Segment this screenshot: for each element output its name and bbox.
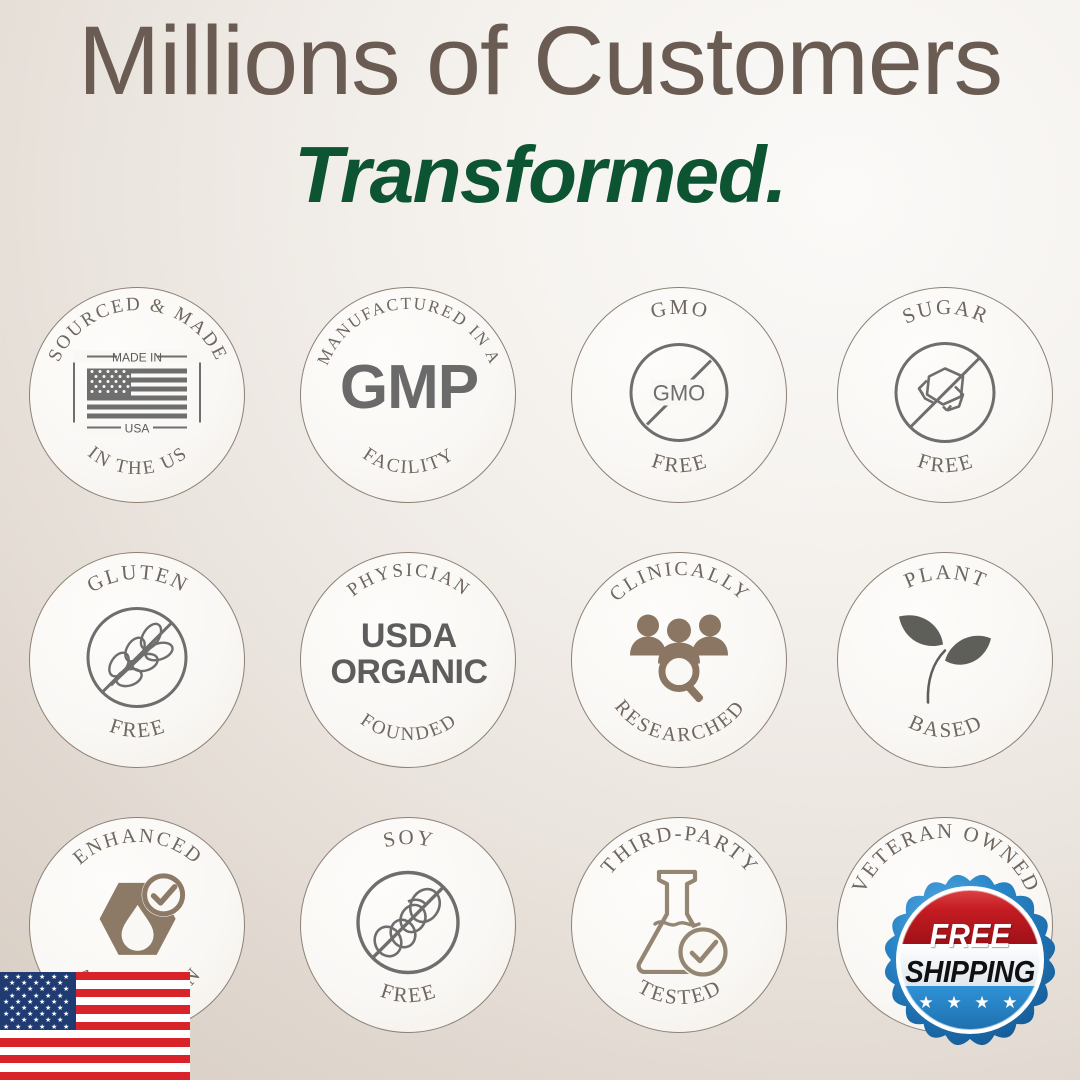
badge-bottom-arc-label: IN THE US (84, 442, 192, 479)
badge-bottom-arc-label: FACILITY (359, 444, 459, 479)
seal-stars-label: ★ ★ ★ ★ (872, 993, 1068, 1013)
badge-top-arc-label: GMO (648, 295, 712, 323)
made-in-label: MADE IN (112, 351, 162, 365)
organic-label: ORGANIC (301, 653, 516, 692)
badge-top-arc-label: SUGAR (899, 295, 994, 329)
badge-gluten-free: GLUTEN FREE (29, 552, 245, 768)
badge-top-arc-label: PHYSICIAN (343, 560, 474, 601)
badge-sugar-free: SUGAR FREE (837, 287, 1053, 503)
gmp-text-icon: GMP (301, 352, 516, 423)
usda-label: USDA (301, 617, 516, 656)
page-title: Millions of Customers (0, 12, 1080, 109)
seal-free-label: FREE (880, 917, 1060, 955)
badge-third-party-tested: THIRD-PARTY TESTED (571, 817, 787, 1033)
badge-clinically-researched: CLINICALLY RESEARCHED (571, 552, 787, 768)
svg-text:CLINICALLY: CLINICALLY (605, 558, 754, 606)
svg-text:FACILITY: FACILITY (359, 444, 459, 479)
badge-top-arc-label: GLUTEN (83, 560, 193, 598)
usa-label: USA (125, 422, 150, 435)
flask-check-icon (623, 866, 735, 989)
people-magnifier-icon (626, 610, 732, 711)
svg-text:FREE: FREE (649, 448, 711, 477)
badge-sourced-made-usa: SOURCED & MADE IN THE US (29, 287, 245, 503)
svg-text:SUGAR: SUGAR (899, 295, 994, 329)
svg-text:IN THE US: IN THE US (84, 442, 192, 479)
svg-text:GLUTEN: GLUTEN (83, 560, 193, 598)
badge-bottom-arc-label: FREE (649, 448, 711, 477)
badge-usda-organic: PHYSICIAN FOUNDED USDA ORGANIC (300, 552, 516, 768)
badge-gmo-free: GMO FREE GMO (571, 287, 787, 503)
seal-shipping-label: SHIPPING (882, 954, 1058, 990)
promo-graphic: Millions of Customers Transformed. SOURC… (0, 0, 1080, 1080)
us-flag-icon: MADE IN USA (73, 351, 201, 440)
page-subtitle: Transformed. (0, 135, 1080, 215)
badge-top-arc-label: SOY (381, 825, 437, 852)
svg-text:PHYSICIAN: PHYSICIAN (343, 560, 474, 601)
badge-bottom-arc-label: FOUNDED (357, 709, 462, 745)
badge-top-arc-label: PLANT (900, 560, 991, 593)
badge-soy-free: SOY FREE (300, 817, 516, 1033)
no-soybean-icon (351, 866, 465, 985)
us-flag-overlay: ★★★★★★★★★★★★★★★★★★★★★★★★★★★★★★★★★★★★★★★★… (0, 972, 190, 1080)
no-sugar-cube-icon (889, 337, 1001, 454)
no-gmo-icon: GMO (624, 338, 734, 453)
svg-text:SOY: SOY (381, 825, 437, 852)
sprout-leaves-icon (889, 605, 1001, 716)
badge-plant-based: PLANT BASED (837, 552, 1053, 768)
badge-gmp-facility: MANUFACTURED IN A FACILITY GMP (300, 287, 516, 503)
free-shipping-seal[interactable]: FREE SHIPPING ★ ★ ★ ★ (872, 862, 1068, 1058)
badge-top-arc-label: ENHANCED (69, 825, 207, 869)
svg-text:GMO: GMO (648, 295, 712, 323)
badge-top-arc-label: CLINICALLY (605, 558, 754, 606)
hex-droplet-check-icon (75, 869, 195, 986)
svg-text:ENHANCED: ENHANCED (69, 825, 207, 869)
no-wheat-icon (81, 602, 193, 719)
svg-text:FOUNDED: FOUNDED (357, 709, 462, 745)
flag-canton: ★★★★★★★★★★★★★★★★★★★★★★★★★★★★★★★★★★★★★★★★… (0, 972, 76, 1030)
headline-block: Millions of Customers Transformed. (0, 0, 1080, 258)
svg-text:PLANT: PLANT (900, 560, 991, 593)
gmo-center-label: GMO (653, 381, 706, 406)
